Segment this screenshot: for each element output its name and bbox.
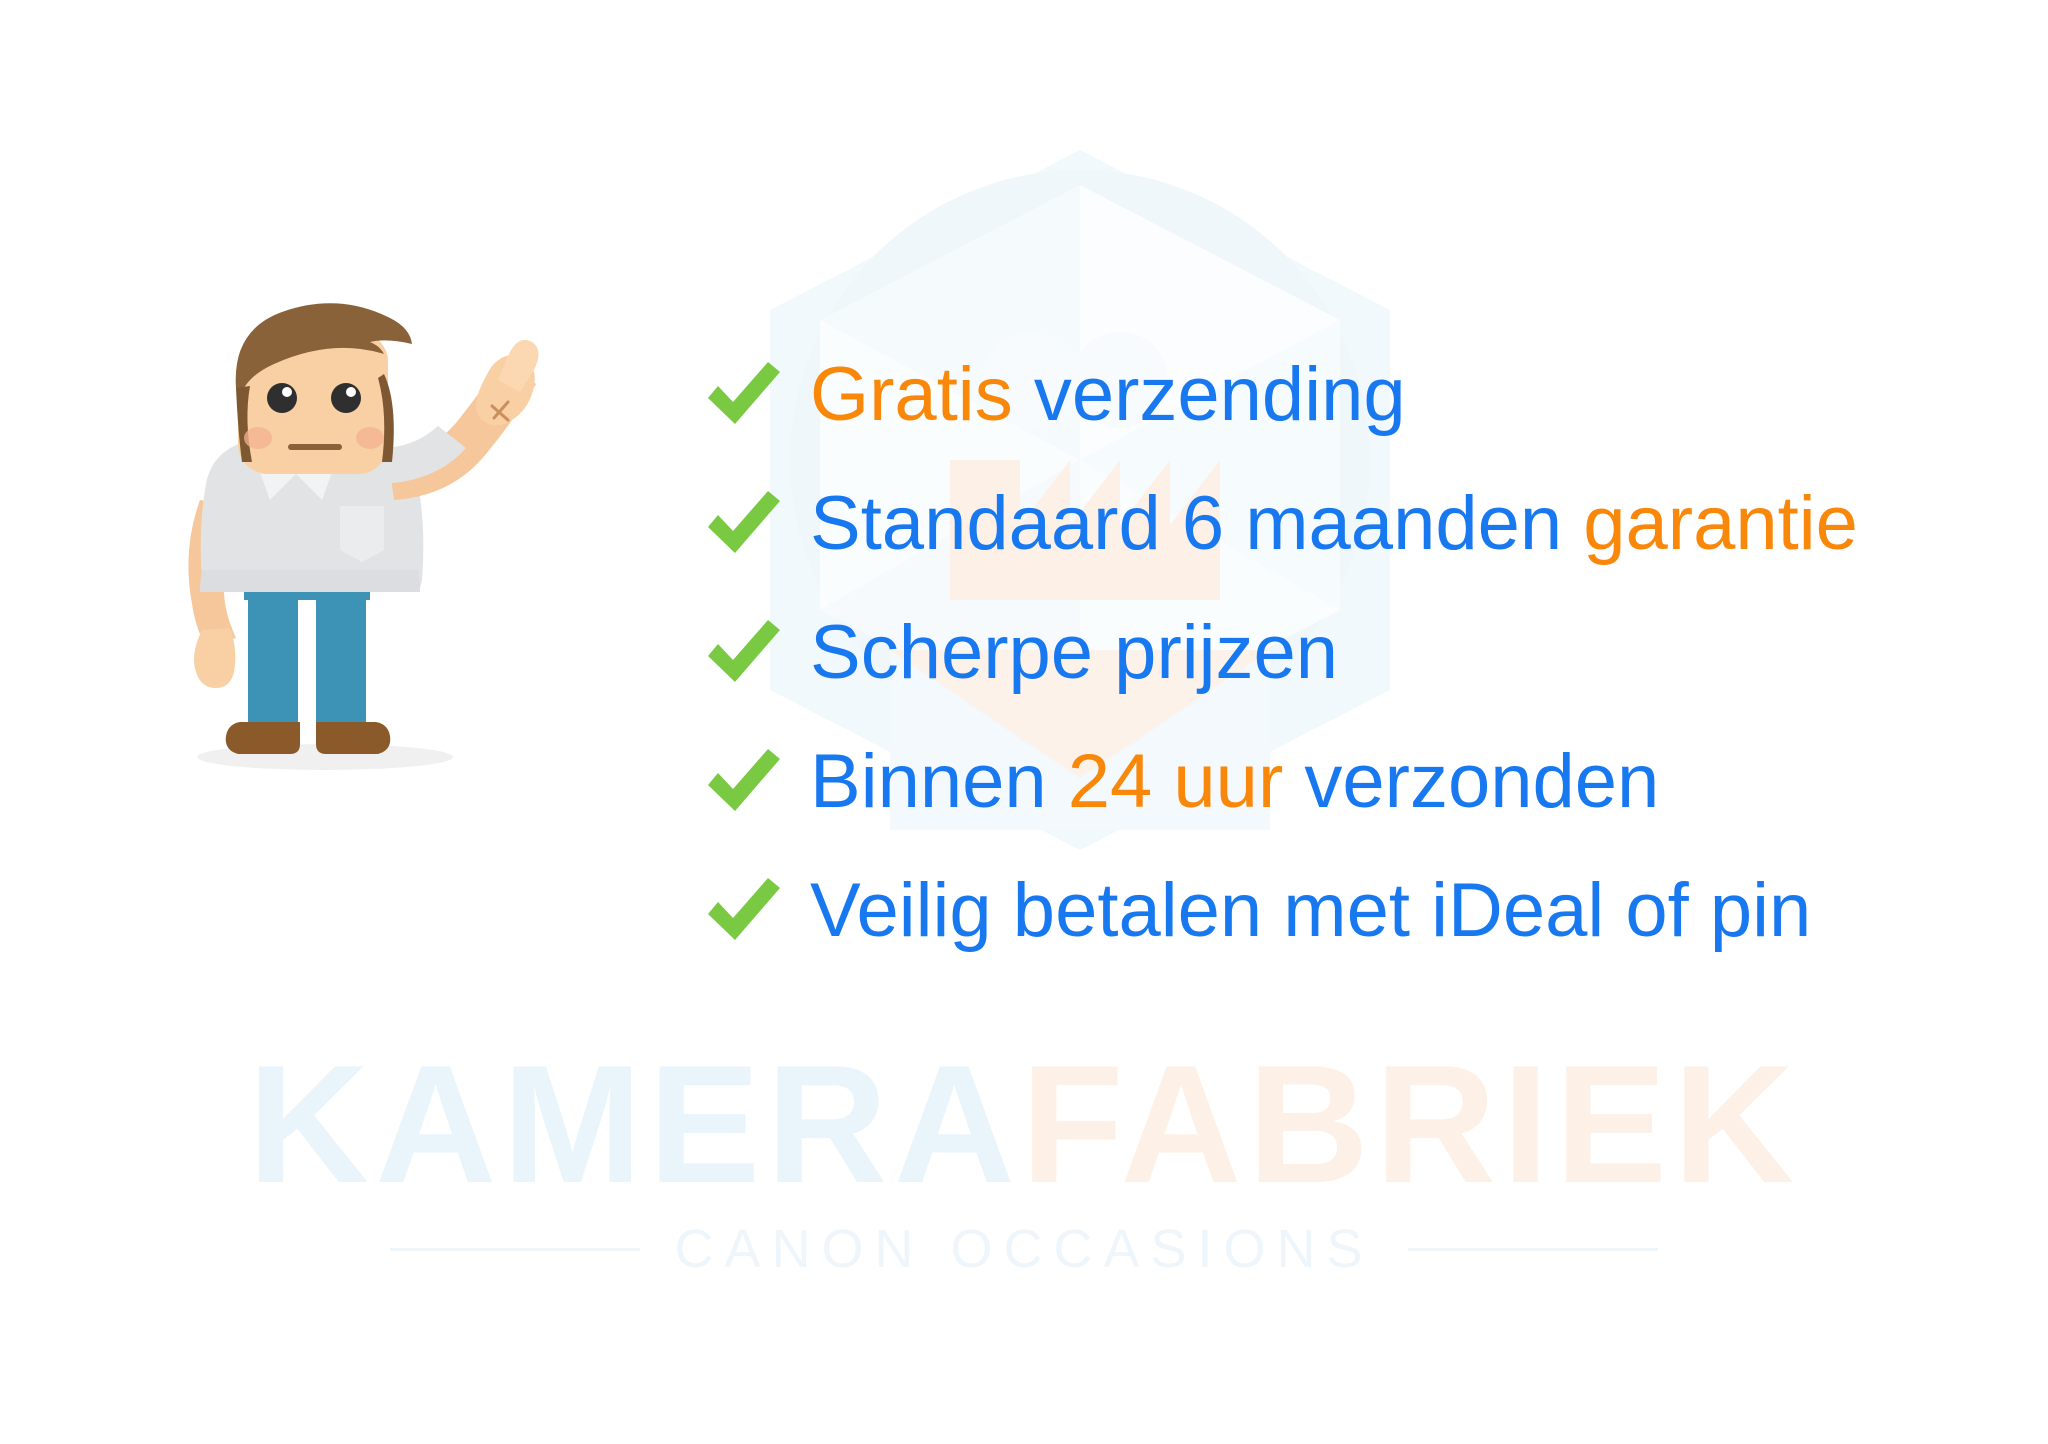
brand-name-part-2: FABRIEK (1021, 1030, 1800, 1218)
usp-segment-standard: verzonden (1304, 739, 1659, 824)
usp-segment-standard: Standaard 6 maanden (810, 481, 1583, 566)
list-item: Veilig betalen met iDeal of pin (700, 846, 1858, 975)
usp-list: Gratis verzending Standaard 6 maanden ga… (700, 330, 1858, 975)
brand-name-part-1: KAMERA (248, 1030, 1021, 1218)
usp-segment-standard: verzending (1034, 352, 1406, 437)
check-icon (700, 352, 786, 438)
usp-item-text: Standaard 6 maanden garantie (810, 486, 1858, 562)
usp-segment-standard: Scherpe prijzen (810, 610, 1338, 695)
divider-left (390, 1248, 640, 1251)
list-item: Scherpe prijzen (700, 588, 1858, 717)
usp-segment-highlight: Gratis (810, 352, 1034, 437)
brand-wordmark: KAMERAFABRIEK (0, 1040, 2048, 1208)
check-icon (700, 739, 786, 825)
list-item: Standaard 6 maanden garantie (700, 459, 1858, 588)
list-item: Binnen 24 uur verzonden (700, 717, 1858, 846)
usp-segment-highlight: 24 uur (1068, 739, 1305, 824)
usp-item-text: Binnen 24 uur verzonden (810, 744, 1659, 820)
usp-segment-standard: Binnen (810, 739, 1068, 824)
list-item: Gratis verzending (700, 330, 1858, 459)
pointing-man-illustration (140, 270, 560, 780)
divider-right (1408, 1248, 1658, 1251)
usp-item-text: Gratis verzending (810, 357, 1406, 433)
check-icon (700, 481, 786, 567)
brand-tagline: CANON OCCASIONS (674, 1218, 1373, 1280)
check-icon (700, 868, 786, 954)
promo-banner: Gratis verzending Standaard 6 maanden ga… (0, 0, 2048, 1444)
brand-tagline-row: CANON OCCASIONS (0, 1218, 2048, 1280)
usp-item-text: Scherpe prijzen (810, 615, 1338, 691)
usp-segment-highlight: garantie (1583, 481, 1858, 566)
usp-segment-standard: Veilig betalen met iDeal of pin (810, 868, 1811, 953)
check-icon (700, 610, 786, 696)
usp-item-text: Veilig betalen met iDeal of pin (810, 873, 1811, 949)
